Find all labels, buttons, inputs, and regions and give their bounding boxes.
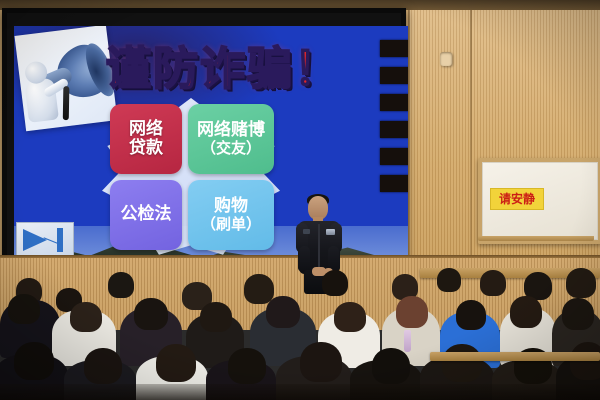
audience-head bbox=[480, 270, 506, 296]
card-online-gambling: 网络赌博 （交友） bbox=[188, 104, 274, 174]
slide-headline-text: 谨防诈骗！ bbox=[106, 46, 341, 91]
audience-head bbox=[334, 302, 366, 332]
audience-head bbox=[134, 298, 168, 330]
seated-student-audience bbox=[0, 268, 600, 400]
black-block bbox=[380, 121, 408, 138]
water-bottle bbox=[404, 330, 411, 352]
monitor-bar-graphic bbox=[57, 228, 63, 252]
photo-scene: 请安静 bbox=[0, 0, 600, 400]
card-line2: 贷款 bbox=[129, 139, 163, 158]
black-block bbox=[380, 175, 408, 192]
slide-black-blocks bbox=[380, 40, 408, 192]
audience-head bbox=[228, 348, 266, 384]
card-line1: 网络赌博 bbox=[197, 121, 265, 140]
fraud-type-card-grid: 网络 贷款 网络赌博 （交友） 公检法 购物 （刷单） bbox=[110, 104, 276, 252]
audience-head bbox=[456, 300, 486, 330]
megaphone-illustration bbox=[14, 26, 117, 131]
audience-head bbox=[266, 296, 300, 328]
audience-head bbox=[510, 296, 542, 328]
wall-switch[interactable] bbox=[440, 52, 452, 66]
audience-head bbox=[437, 268, 461, 292]
audience-head bbox=[84, 348, 122, 384]
presenter-uniform-zip bbox=[318, 224, 320, 270]
audience-head bbox=[322, 270, 348, 296]
card-online-loan: 网络 贷款 bbox=[110, 104, 182, 174]
bench-front-right bbox=[430, 352, 600, 361]
black-block bbox=[380, 94, 408, 111]
whiteboard-tray bbox=[478, 236, 594, 241]
audience-head bbox=[70, 302, 102, 332]
audience-head bbox=[156, 344, 196, 382]
card-line1: 网络 bbox=[129, 120, 163, 139]
presenter-badge bbox=[326, 229, 335, 235]
audience-head bbox=[570, 342, 600, 380]
audience-head bbox=[200, 302, 232, 332]
audience-head bbox=[300, 342, 342, 382]
black-block bbox=[380, 67, 408, 84]
card-fake-authority: 公检法 bbox=[110, 180, 182, 250]
card-shopping-refund: 购物 （刷单） bbox=[188, 180, 274, 250]
quiet-sign: 请安静 bbox=[490, 188, 544, 210]
card-line2: （交友） bbox=[201, 140, 261, 157]
card-line2: （刷单） bbox=[201, 216, 261, 233]
audience-head bbox=[8, 294, 40, 324]
whiteboard: 请安静 bbox=[478, 158, 600, 244]
floor-shadow bbox=[0, 384, 600, 400]
audience-head bbox=[566, 268, 596, 298]
presenter-shoulder-patch bbox=[303, 229, 310, 234]
slide-headline: 谨防诈骗！ bbox=[106, 40, 406, 96]
card-line1: 购物 bbox=[214, 197, 248, 216]
audience-head bbox=[108, 272, 134, 298]
quiet-sign-label: 请安静 bbox=[499, 193, 535, 205]
audience-head bbox=[396, 296, 428, 328]
audience-head bbox=[562, 298, 594, 330]
audience-head bbox=[244, 274, 274, 304]
megaphone-handle bbox=[63, 86, 70, 120]
audience-head bbox=[442, 344, 482, 382]
black-block bbox=[380, 40, 408, 57]
audience-head bbox=[14, 342, 54, 380]
play-icon bbox=[23, 229, 47, 251]
card-line1: 公检法 bbox=[121, 205, 172, 224]
audience-head bbox=[372, 348, 410, 384]
black-block bbox=[380, 148, 408, 165]
